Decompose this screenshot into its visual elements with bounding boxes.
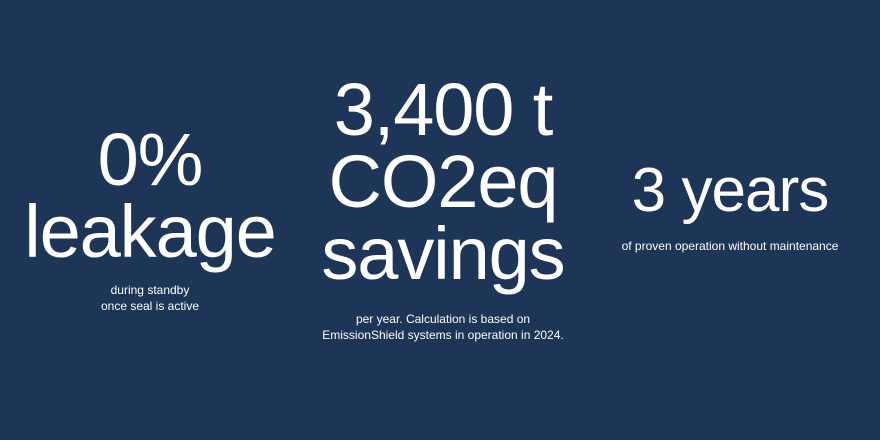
stat-caption-line: per year. Calculation is based on — [322, 311, 563, 327]
stats-board: 0% leakage during standby once seal is a… — [0, 0, 880, 440]
stat-block-co2-savings: 3,400 t CO2eq savings per year. Calculat… — [293, 74, 593, 344]
stat-headline-line: 3 years — [632, 160, 829, 222]
stat-caption-co2-savings: per year. Calculation is based on Emissi… — [322, 311, 563, 343]
stat-block-leakage: 0% leakage during standby once seal is a… — [0, 124, 300, 314]
stat-headline-line: 0% — [24, 124, 275, 196]
stat-headline-line: savings — [321, 218, 564, 290]
stat-caption-line: during standby — [101, 282, 199, 298]
stat-caption-line: of proven operation without maintenance — [622, 238, 839, 254]
stat-caption-years: of proven operation without maintenance — [622, 238, 839, 254]
stat-caption-line: EmissionShield systems in operation in 2… — [322, 327, 563, 343]
stat-caption-line: once seal is active — [101, 298, 199, 314]
stat-headline-leakage: 0% leakage — [24, 124, 275, 268]
stat-block-years: 3 years of proven operation without main… — [580, 160, 880, 254]
stat-caption-leakage: during standby once seal is active — [101, 282, 199, 314]
stat-headline-co2-savings: 3,400 t CO2eq savings — [321, 74, 564, 289]
stat-headline-line: leakage — [24, 196, 275, 268]
stat-headline-line: 3,400 t — [321, 74, 564, 146]
stat-headline-years: 3 years — [632, 160, 829, 222]
stat-headline-line: CO2eq — [321, 146, 564, 218]
